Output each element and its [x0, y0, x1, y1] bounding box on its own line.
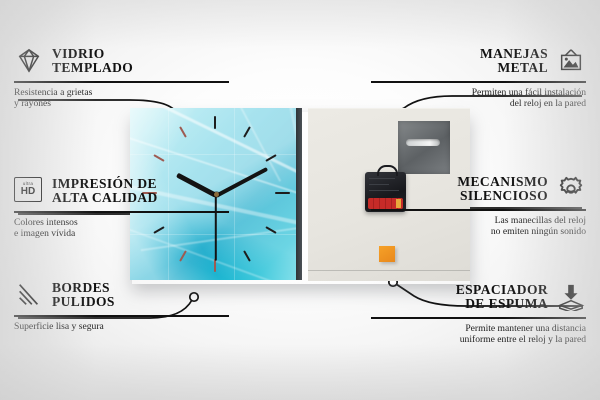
divider [14, 211, 229, 213]
divider [14, 315, 229, 317]
metal-hanger-plate [398, 121, 450, 174]
feature-title-line1: IMPRESIÓN DE [52, 176, 157, 191]
feature-desc-line2: no emiten ningún sonido [491, 226, 586, 237]
feature-desc-line1: Resistencia a grietas [14, 87, 92, 98]
divider [14, 81, 229, 83]
clock-side-edge [296, 108, 302, 280]
divider [371, 81, 586, 83]
feature-desc-line2: y rayones [14, 98, 51, 109]
feature-title-line1: VIDRIO [52, 46, 105, 61]
arrow-down-foam-pad-icon [556, 283, 586, 311]
picture-frame-hanger-icon [556, 47, 586, 75]
feature-title-line1: ESPACIADOR [456, 282, 548, 297]
feature-title-line1: BORDES [52, 280, 110, 295]
feature-vidrio-templado[interactable]: VIDRIO TEMPLADO Resistencia a grietas y … [14, 42, 229, 110]
feature-desc-line2: uniforme entre el reloj y la pared [460, 334, 586, 345]
feature-title-line2: SILENCIOSO [460, 188, 548, 203]
feature-desc-line2: del reloj en la pared [510, 98, 586, 109]
feature-title-line2: TEMPLADO [52, 60, 133, 75]
feature-espaciador-espuma[interactable]: ESPACIADOR DE ESPUMA Permite mantener un… [371, 278, 586, 346]
ultra-hd-icon: ultra HD [14, 177, 44, 205]
feature-mecanismo-silencioso[interactable]: MECANISMO SILENCIOSO Las manecillas del … [371, 170, 586, 238]
feature-title-line2: DE ESPUMA [465, 296, 548, 311]
diamond-icon [14, 47, 44, 75]
feature-title-line1: MANEJAS [480, 46, 548, 61]
hanger-slot [406, 139, 440, 146]
feature-impresion-alta-calidad[interactable]: ultra HD IMPRESIÓN DE ALTA CALIDAD Color… [14, 172, 229, 240]
feature-desc-line1: Las manecillas del reloj [495, 215, 586, 226]
divider [371, 317, 586, 319]
foam-spacer [379, 246, 395, 262]
feature-title-line2: METAL [497, 60, 548, 75]
gear-icon [556, 175, 586, 203]
feature-bordes-pulidos[interactable]: BORDES PULIDOS Superficie lisa y segura [14, 276, 229, 332]
feature-desc-line1: Permiten una fácil instalación [472, 87, 586, 98]
feature-title-line1: MECANISMO [457, 174, 548, 189]
infographic-canvas: VIDRIO TEMPLADO Resistencia a grietas y … [0, 0, 600, 400]
feature-desc-line1: Superficie lisa y segura [14, 321, 104, 332]
feature-desc-line2: e imagen vívida [14, 228, 75, 239]
feature-desc-line1: Colores intensos [14, 217, 78, 228]
feature-manejas-metal[interactable]: MANEJAS METAL Permiten una fácil instala… [371, 42, 586, 110]
ultra-hd-main-label: HD [21, 187, 35, 197]
polished-edge-icon [14, 281, 44, 309]
feature-title-line2: ALTA CALIDAD [52, 190, 158, 205]
feature-title-line2: PULIDOS [52, 294, 115, 309]
divider [371, 209, 586, 211]
feature-desc-line1: Permite mantener una distancia [465, 323, 586, 334]
